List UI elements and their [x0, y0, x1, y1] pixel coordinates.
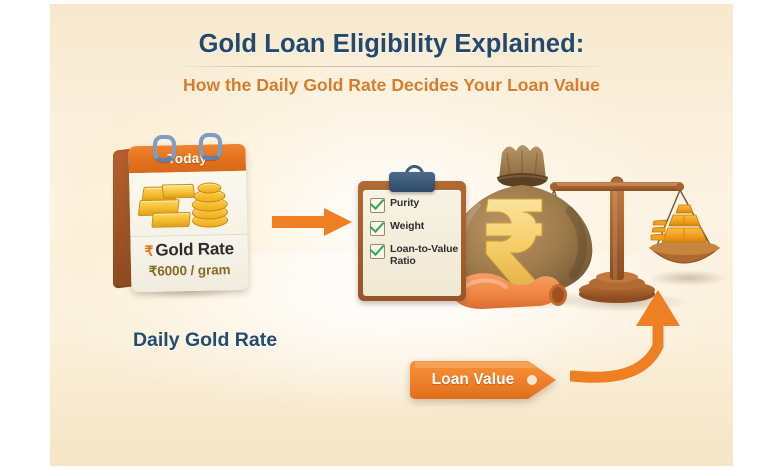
artboard: Gold Loan Eligibility Explained: How the…: [50, 4, 733, 466]
arrow-right-icon: [272, 207, 354, 237]
checklist-label: Loan-to-Value Ratio: [390, 243, 460, 268]
calendar-ring-icon: [199, 133, 222, 160]
clipboard-clip-icon: [389, 172, 435, 192]
check-icon: [370, 198, 385, 213]
list-item: Weight: [370, 220, 460, 236]
list-item: Purity: [370, 197, 460, 213]
gold-rate-heading: ₹ Gold Rate: [130, 239, 247, 261]
loan-value-label: Loan Value: [410, 361, 536, 399]
gold-rate-calendar: Today ₹ Gold Ra: [113, 139, 249, 297]
title-divider: [177, 66, 607, 67]
infographic-canvas: Gold Loan Eligibility Explained: How the…: [0, 0, 780, 470]
calendar-ring-icon: [153, 135, 176, 162]
page-subtitle: How the Daily Gold Rate Decides Your Loa…: [50, 75, 733, 96]
gold-bar-icon: [151, 212, 190, 228]
calendar-today-label: Today: [128, 144, 246, 173]
check-icon: [370, 221, 385, 236]
gold-illustration: [129, 171, 247, 237]
list-item: Loan-to-Value Ratio: [370, 243, 460, 268]
calendar-card: Today ₹ Gold Ra: [128, 144, 248, 292]
eligibility-clipboard: Purity Weight Loan-to-Value Ratio: [358, 181, 466, 301]
eligibility-checklist: Purity Weight Loan-to-Value Ratio: [370, 197, 460, 275]
loan-value-tag: Loan Value: [410, 361, 560, 399]
daily-gold-rate-caption: Daily Gold Rate: [90, 329, 320, 352]
check-icon: [370, 244, 385, 259]
gold-rate-block: ₹ Gold Rate ₹6000 / gram: [130, 235, 248, 292]
checklist-label: Purity: [390, 197, 419, 209]
arrow-curve-up-icon: [570, 284, 710, 389]
rupee-icon: ₹: [144, 243, 153, 260]
checklist-label: Weight: [390, 220, 424, 232]
gold-rate-label: Gold Rate: [155, 239, 234, 261]
page-title: Gold Loan Eligibility Explained:: [50, 30, 733, 59]
heading-block: Gold Loan Eligibility Explained: How the…: [50, 30, 733, 96]
gold-bar-icon: [162, 184, 196, 199]
gold-rate-value: ₹6000 / gram: [131, 262, 248, 280]
